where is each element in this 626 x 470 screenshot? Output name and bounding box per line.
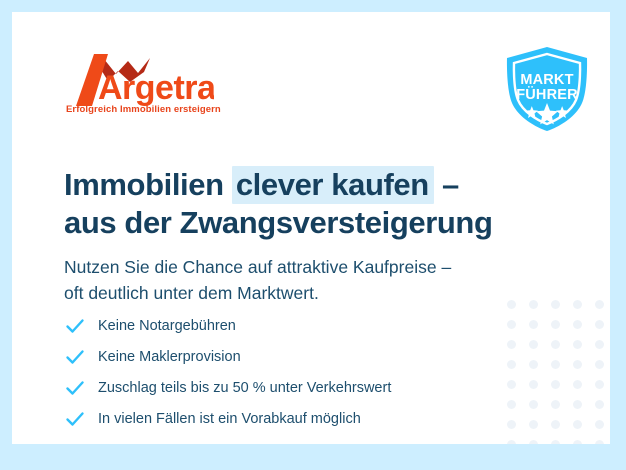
grid-dot bbox=[595, 340, 604, 349]
markt-fuehrer-badge: MARKT FÜHRER bbox=[499, 45, 595, 133]
list-item: In vielen Fällen ist ein Vorabkauf mögli… bbox=[64, 403, 534, 434]
grid-dot bbox=[551, 340, 560, 349]
list-item: Keine Notargebühren bbox=[64, 310, 534, 341]
grid-dot bbox=[507, 440, 516, 445]
grid-dot bbox=[595, 300, 604, 309]
grid-dot bbox=[551, 400, 560, 409]
headline-highlight: clever kaufen bbox=[232, 166, 434, 204]
grid-dot bbox=[573, 300, 582, 309]
shield-badge-icon: MARKT FÜHRER bbox=[499, 45, 595, 133]
grid-dot bbox=[595, 400, 604, 409]
logo-tagline: Erfolgreich Immobilien ersteigern bbox=[66, 104, 221, 115]
list-item-label: Zuschlag teils bis zu 50 % unter Verkehr… bbox=[98, 380, 391, 396]
grid-dot bbox=[573, 320, 582, 329]
subheading-line1: Nutzen Sie die Chance auf attraktive Kau… bbox=[64, 254, 564, 280]
headline-line2: aus der Zwangsversteigerung bbox=[64, 204, 554, 242]
list-item: Keine Maklerprovision bbox=[64, 341, 534, 372]
check-icon bbox=[64, 408, 86, 430]
grid-dot bbox=[551, 380, 560, 389]
subheading-line2: oft deutlich unter dem Marktwert. bbox=[64, 280, 564, 306]
grid-dot bbox=[551, 360, 560, 369]
grid-dot bbox=[573, 400, 582, 409]
argetra-logo[interactable]: Argetra Erfolgreich Immobilien ersteiger… bbox=[64, 52, 224, 124]
benefits-checklist: Keine Notargebühren Keine Maklerprovisio… bbox=[64, 310, 534, 434]
list-item-label: In vielen Fällen ist ein Vorabkauf mögli… bbox=[98, 411, 361, 427]
promo-banner: Argetra Erfolgreich Immobilien ersteiger… bbox=[0, 0, 626, 470]
headline-part1: Immobilien bbox=[64, 167, 232, 202]
headline-part3: – bbox=[434, 167, 459, 202]
grid-dot bbox=[551, 440, 560, 445]
argetra-a-roof-icon: Argetra bbox=[64, 52, 214, 107]
grid-dot bbox=[595, 320, 604, 329]
grid-dot bbox=[573, 440, 582, 445]
svg-text:Argetra: Argetra bbox=[98, 69, 214, 107]
page-title: Immobilien clever kaufen – aus der Zwang… bbox=[64, 166, 554, 243]
list-item-label: Keine Notargebühren bbox=[98, 318, 236, 334]
badge-line2-text: FÜHRER bbox=[516, 86, 578, 103]
grid-dot bbox=[551, 320, 560, 329]
check-icon bbox=[64, 315, 86, 337]
check-icon bbox=[64, 377, 86, 399]
badge-line1-text: MARKT bbox=[520, 72, 573, 88]
banner-canvas: Argetra Erfolgreich Immobilien ersteiger… bbox=[12, 12, 610, 444]
check-icon bbox=[64, 346, 86, 368]
grid-dot bbox=[595, 440, 604, 445]
grid-dot bbox=[573, 340, 582, 349]
grid-dot bbox=[595, 380, 604, 389]
grid-dot bbox=[573, 380, 582, 389]
grid-dot bbox=[573, 360, 582, 369]
list-item-label: Keine Maklerprovision bbox=[98, 349, 241, 365]
grid-dot bbox=[529, 440, 538, 445]
grid-dot bbox=[573, 420, 582, 429]
grid-dot bbox=[551, 420, 560, 429]
grid-dot bbox=[595, 420, 604, 429]
subheading: Nutzen Sie die Chance auf attraktive Kau… bbox=[64, 254, 564, 307]
list-item: Zuschlag teils bis zu 50 % unter Verkehr… bbox=[64, 372, 534, 403]
grid-dot bbox=[595, 360, 604, 369]
